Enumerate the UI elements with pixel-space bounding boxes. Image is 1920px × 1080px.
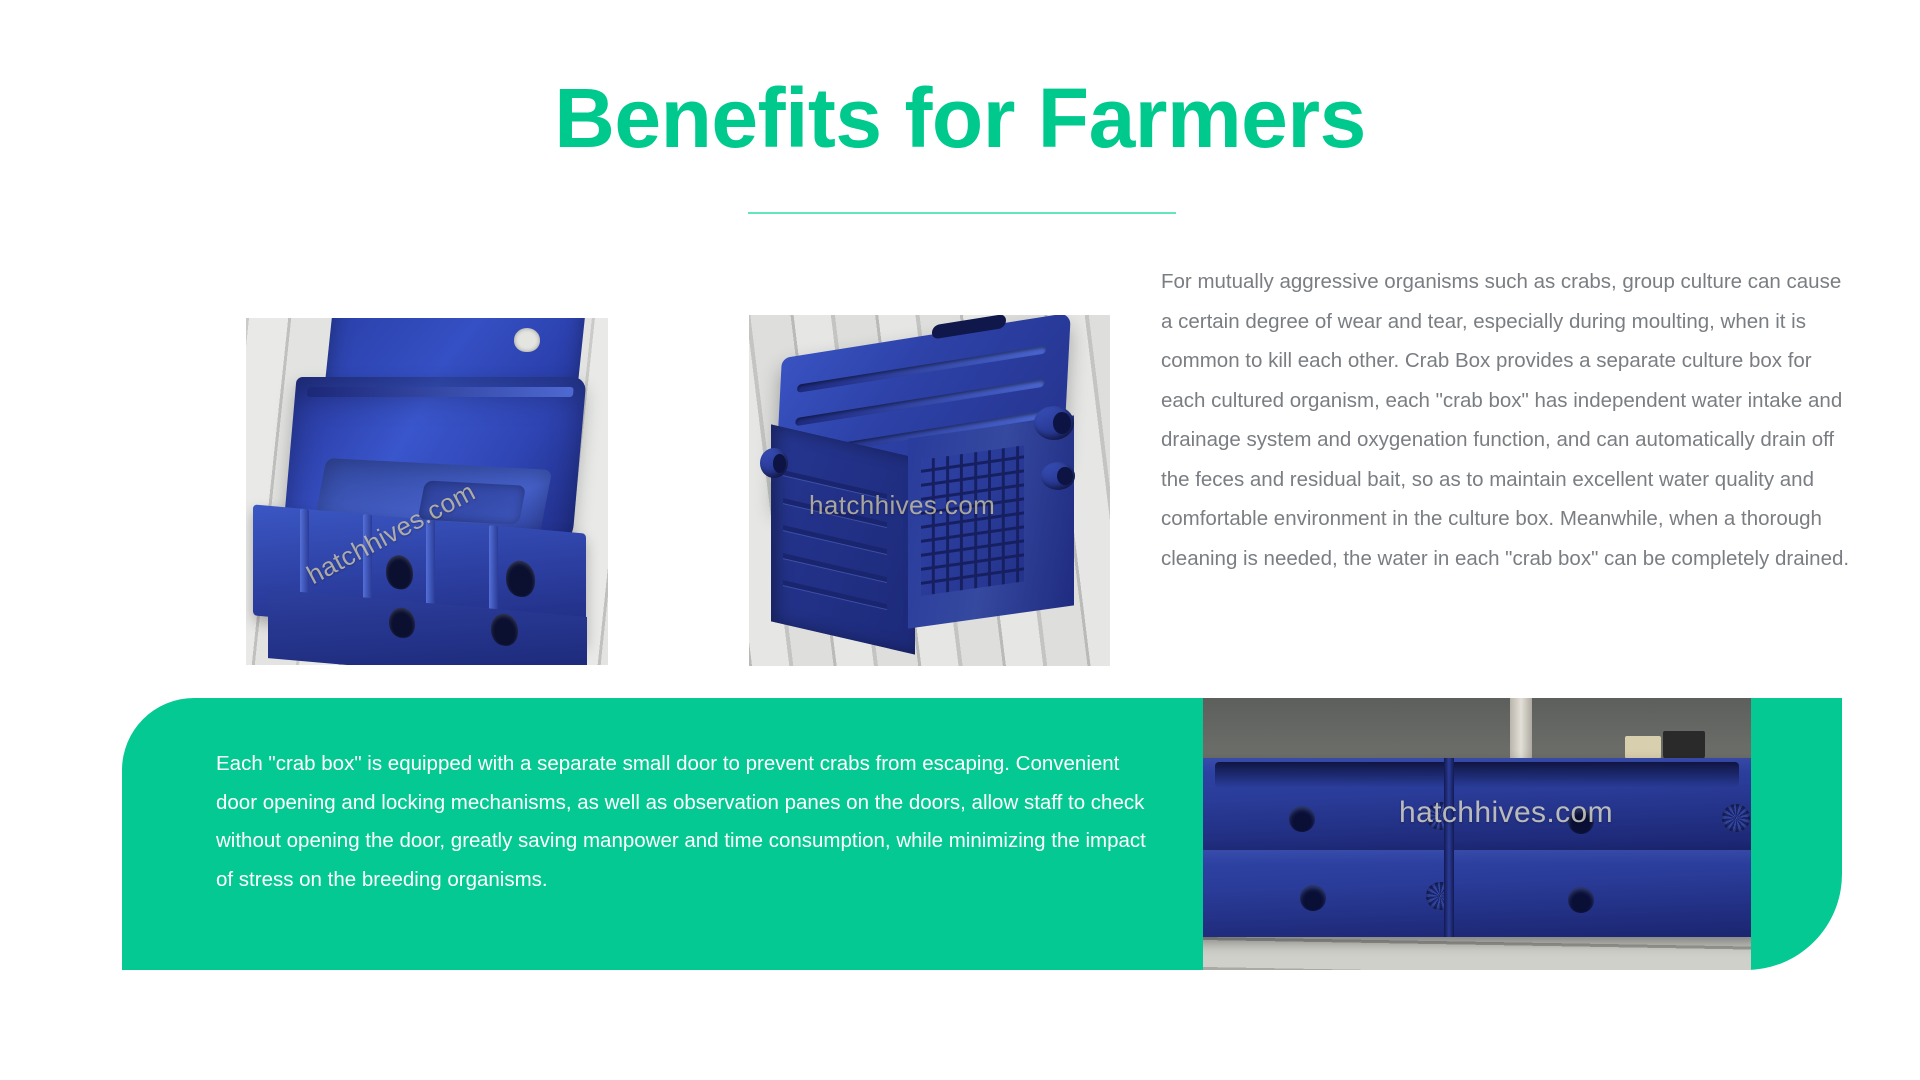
crate-tier-lower bbox=[1203, 850, 1751, 937]
highlight-panel-paragraph: Each "crab box" is equipped with a separ… bbox=[216, 745, 1156, 899]
product-image-closed-crate: hatchhives.com bbox=[749, 315, 1110, 666]
crate-cooling-fin bbox=[782, 553, 886, 582]
crate-rim-edge bbox=[307, 387, 574, 397]
crate-ventilation-grille bbox=[921, 445, 1024, 596]
crate-side-panel-right bbox=[908, 416, 1074, 629]
product-image-stacked-crates: hatchhives.com bbox=[1203, 698, 1751, 970]
crate-interior-shadow bbox=[1215, 762, 1739, 788]
page-title: Benefits for Farmers bbox=[0, 72, 1920, 164]
crate-cooling-fin bbox=[782, 471, 886, 500]
crate-side-knob bbox=[760, 448, 788, 478]
product-image-open-crate: hatchhives.com bbox=[246, 318, 608, 665]
crate-cooling-fin bbox=[782, 526, 886, 555]
crate-cooling-fin bbox=[782, 581, 886, 610]
crate-drain-hole bbox=[1300, 885, 1326, 911]
right-description-paragraph: For mutually aggressive organisms such a… bbox=[1161, 262, 1851, 578]
crate-rear-vent-hole bbox=[514, 328, 540, 352]
crate-drain-hole bbox=[1568, 887, 1594, 913]
crate-joint-seam bbox=[1444, 758, 1454, 938]
crate-drain-hole bbox=[1568, 808, 1594, 834]
crate-tier-upper bbox=[1203, 758, 1751, 850]
title-divider bbox=[748, 212, 1176, 214]
crate-drain-hole bbox=[1289, 806, 1315, 832]
crate-cooling-fin bbox=[782, 498, 886, 527]
crate-latch-wheel bbox=[1722, 804, 1750, 832]
crate-lower-drain-hole bbox=[389, 606, 415, 638]
crate-side-panel-left bbox=[771, 425, 915, 655]
crate-drain-hole bbox=[506, 560, 535, 599]
crate-lower-drain-hole bbox=[491, 612, 518, 646]
background-planter bbox=[1663, 731, 1705, 761]
crate-drain-hole bbox=[386, 554, 413, 590]
